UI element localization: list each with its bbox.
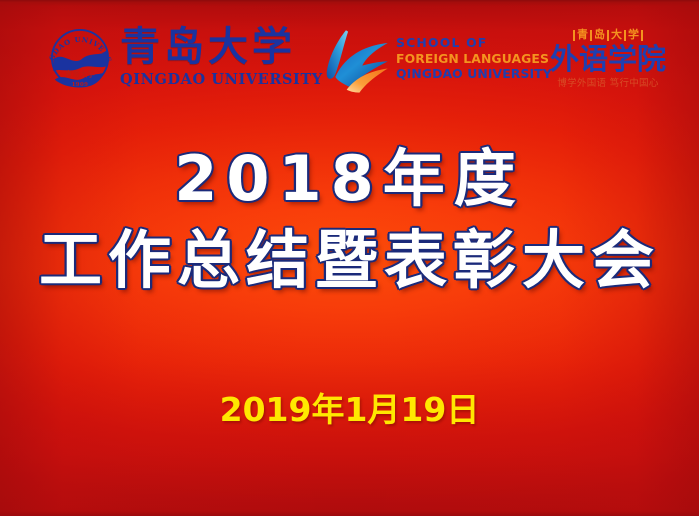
qingdao-university-wordmark: 青岛大学 QINGDAO UNIVERSITY xyxy=(120,25,305,95)
title-line-subject: 工作总结暨表彰大会 xyxy=(0,220,699,302)
cn-char-2: 大 xyxy=(611,28,622,42)
cn-char-3: 学 xyxy=(628,28,639,42)
separator-bar-icon xyxy=(624,30,626,41)
separator-bar-icon xyxy=(641,30,643,41)
sfl-line-qingdao-university: QINGDAO UNIVERSITY xyxy=(396,66,538,82)
qingdao-university-seal-icon: QINGDAO UNIVERSITY 青岛大学 1909 xyxy=(44,22,116,94)
separator-bar-icon xyxy=(607,30,609,41)
main-title-block: 2018年度 工作总结暨表彰大会 xyxy=(0,140,699,302)
qdu-wordmark-en: QINGDAO UNIVERSITY xyxy=(120,71,305,88)
conference-banner: QINGDAO UNIVERSITY 青岛大学 1909 青岛大学 QINGDA… xyxy=(0,0,699,516)
sfl-cn-university-line: 青 岛 大 学 xyxy=(546,28,670,42)
sfl-line-foreign-languages: FOREIGN LANGUAGES xyxy=(396,51,538,67)
event-date: 2019年1月19日 xyxy=(0,383,699,431)
cn-char-0: 青 xyxy=(577,28,588,42)
separator-bar-icon xyxy=(573,30,575,41)
separator-bar-icon xyxy=(590,30,592,41)
svg-text:1909: 1909 xyxy=(72,82,89,88)
sfl-chinese-block: 青 岛 大 学 外语学院 博学外国语 笃行中国心 xyxy=(546,28,670,90)
title-line-year: 2018年度 xyxy=(0,140,699,218)
sfl-cn-name: 外语学院 xyxy=(546,43,670,75)
bottom-edge-shadow xyxy=(0,511,699,516)
logo-header: QINGDAO UNIVERSITY 青岛大学 1909 青岛大学 QINGDA… xyxy=(0,0,699,110)
event-date-block: 2019年1月19日 xyxy=(0,383,699,431)
cn-char-1: 岛 xyxy=(594,28,605,42)
svg-text:青岛大学: 青岛大学 xyxy=(65,70,95,79)
sfl-line-school-of: SCHOOL OF xyxy=(396,35,538,51)
qdu-wordmark-cn: 青岛大学 xyxy=(120,25,305,69)
sfl-cn-motto: 博学外国语 笃行中国心 xyxy=(546,77,670,90)
school-of-foreign-languages-swoosh-icon xyxy=(322,26,394,94)
sfl-text-block: SCHOOL OF FOREIGN LANGUAGES QINGDAO UNIV… xyxy=(396,35,538,82)
